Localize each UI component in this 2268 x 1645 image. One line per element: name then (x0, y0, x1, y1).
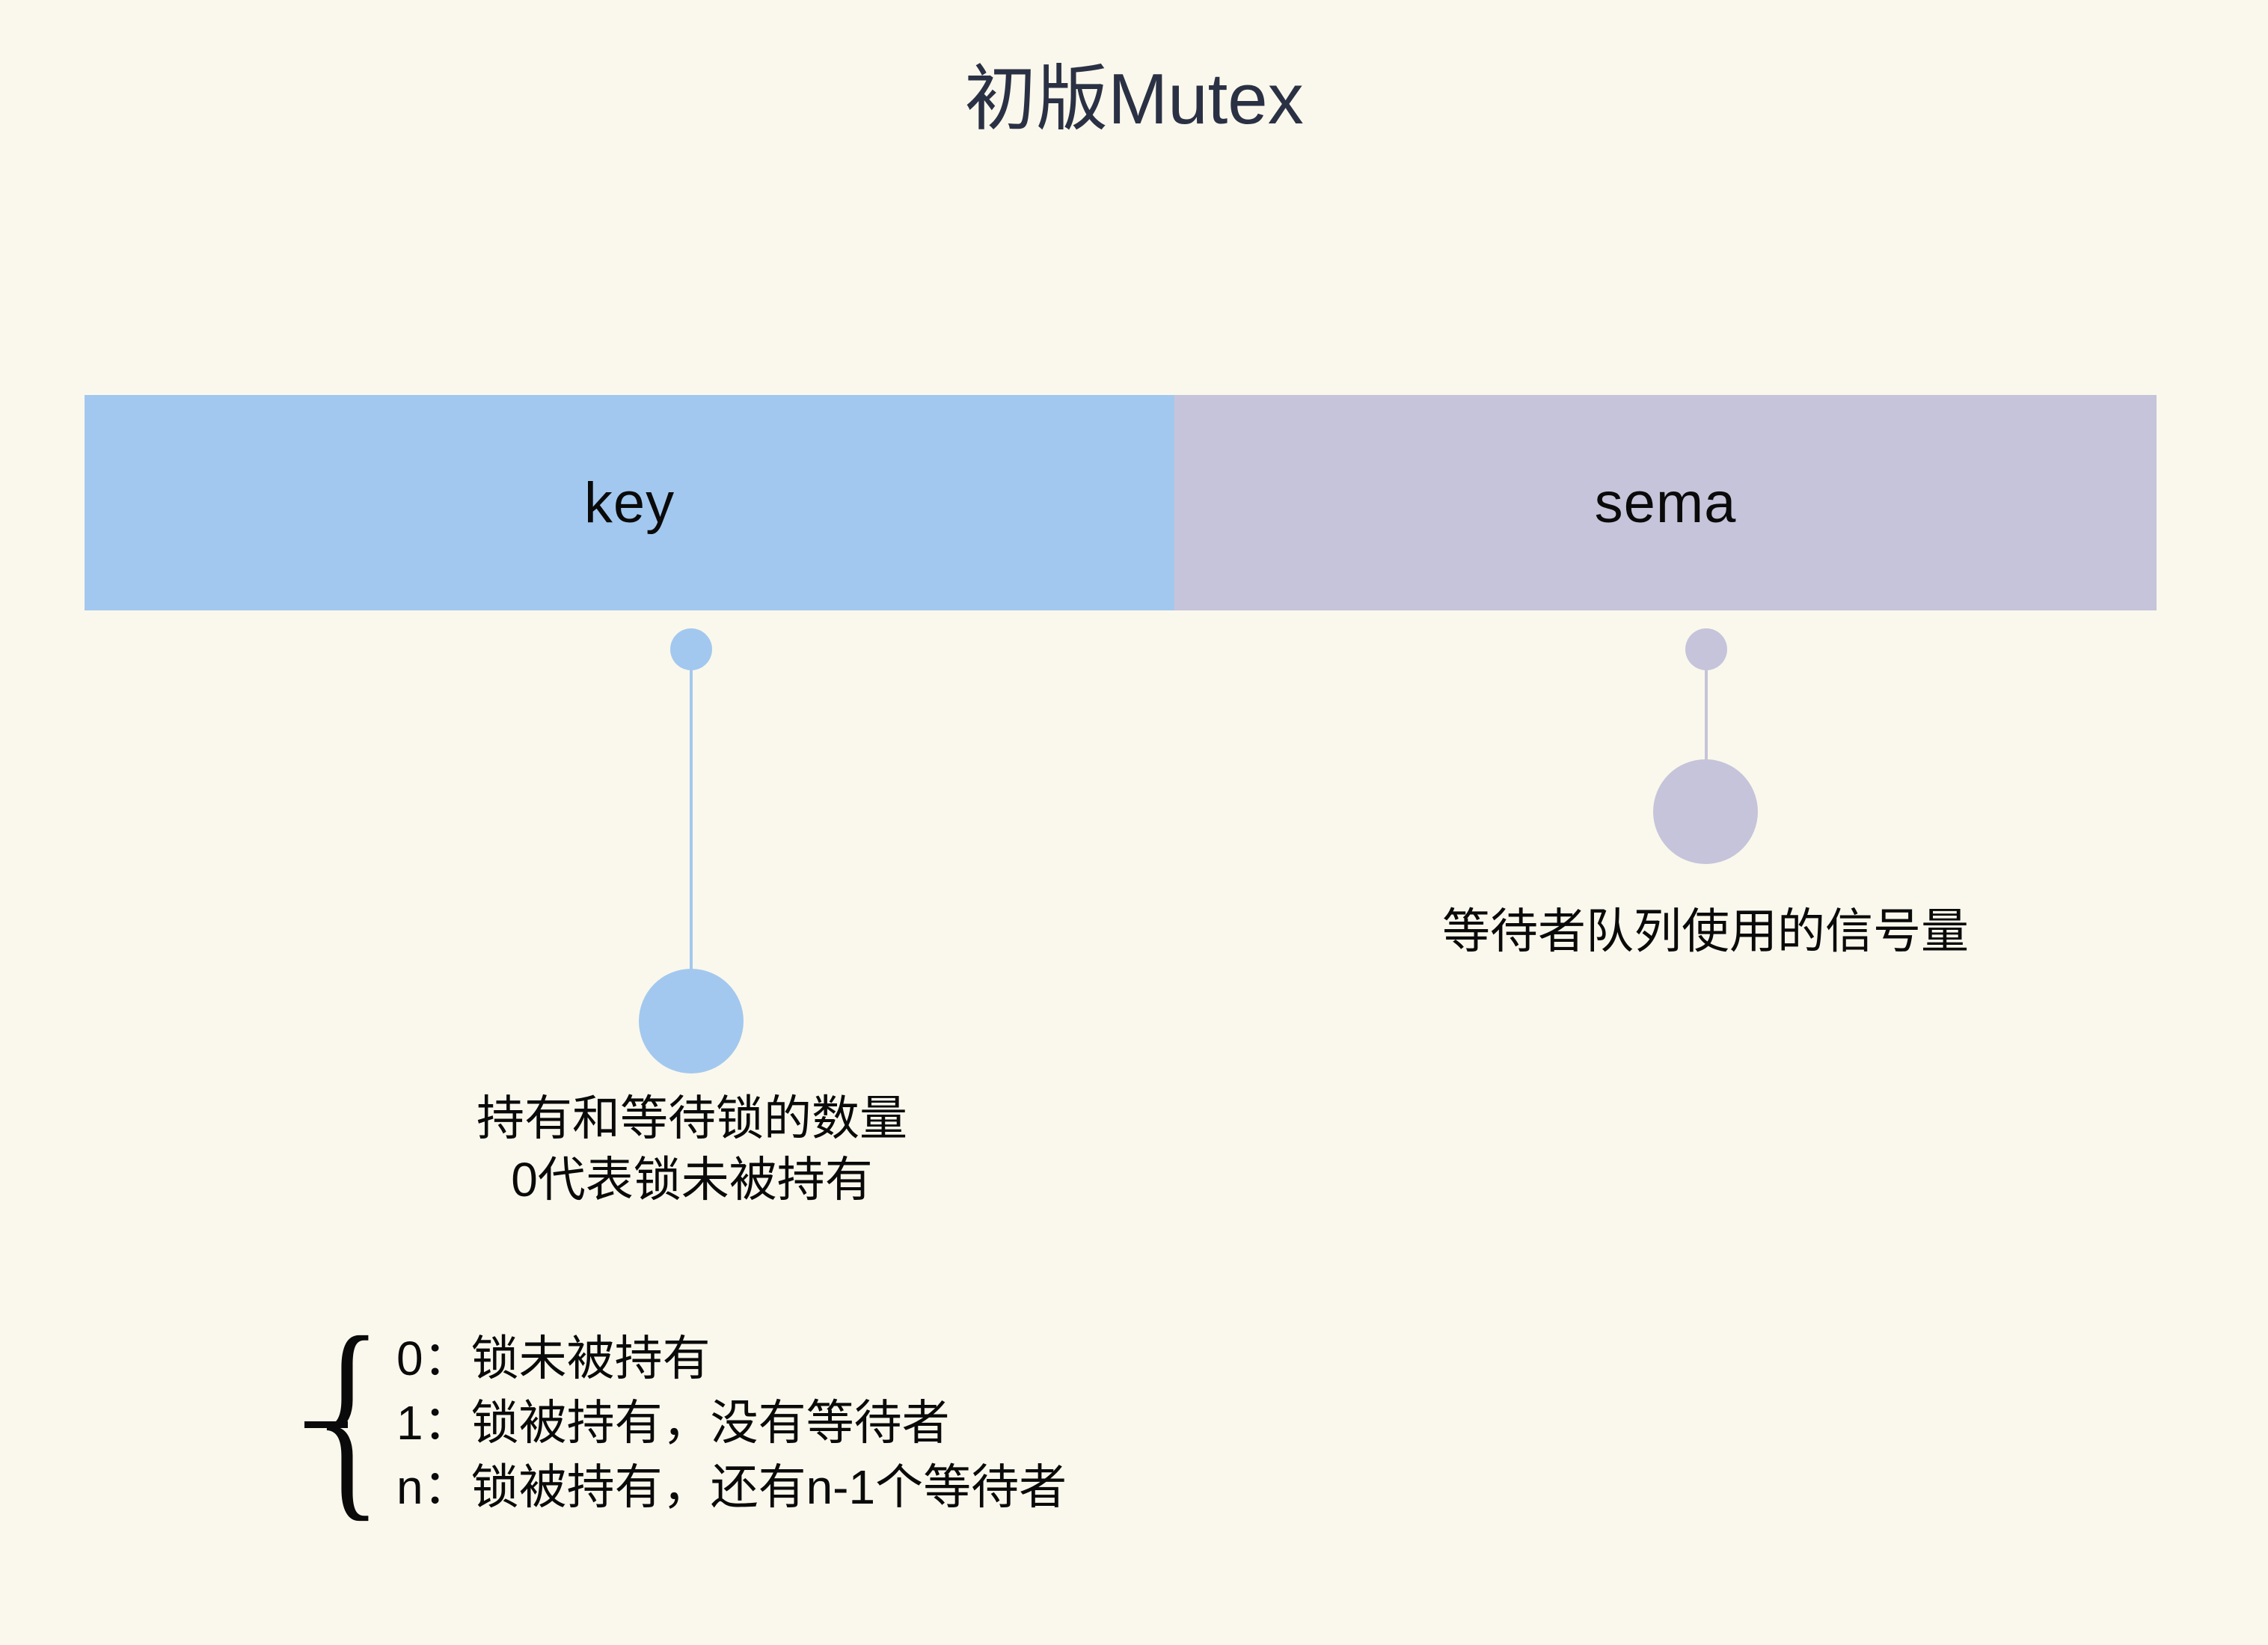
key-leader-line-icon (690, 669, 693, 974)
sema-leader-line-icon (1705, 669, 1708, 765)
left-curly-brace-icon: { (314, 1303, 381, 1528)
key-caption-line-1: 持有和等待锁的数量 (0, 1088, 1384, 1150)
sema-leader-target-dot-icon (1653, 759, 1758, 864)
mutex-struct-bar: key sema (85, 395, 2157, 610)
brace-connector-tick-icon (304, 1421, 348, 1428)
list-item: 0：锁未被持有 (396, 1330, 1067, 1387)
key-leader-target-dot-icon (639, 969, 744, 1073)
list-item: n：锁被持有，还有n-1个等待者 (396, 1459, 1067, 1516)
key-leader-anchor-dot-icon (670, 628, 712, 670)
struct-field-sema: sema (1174, 395, 2157, 610)
struct-field-key-label: key (584, 471, 675, 536)
sema-caption: 等待者队列使用的信号量 (1032, 901, 2268, 963)
key-caption: 持有和等待锁的数量 0代表锁未被持有 (0, 1088, 1384, 1211)
key-caption-line-2: 0代表锁未被持有 (0, 1150, 1384, 1211)
diagram-canvas: 初版Mutex key sema 持有和等待锁的数量 0代表锁未被持有 等待者队… (0, 0, 2268, 1645)
key-value-brace-group: { 0：锁未被持有 1：锁被持有，没有等待者 n：锁被持有，还有n-1个等待者 (314, 1330, 1361, 1540)
sema-leader-anchor-dot-icon (1685, 628, 1727, 670)
page-title: 初版Mutex (0, 64, 2268, 135)
list-item: 1：锁被持有，没有等待者 (396, 1394, 1067, 1451)
struct-field-key: key (85, 395, 1174, 610)
key-value-list: 0：锁未被持有 1：锁被持有，没有等待者 n：锁被持有，还有n-1个等待者 (396, 1330, 1067, 1523)
struct-field-sema-label: sema (1595, 471, 1737, 536)
